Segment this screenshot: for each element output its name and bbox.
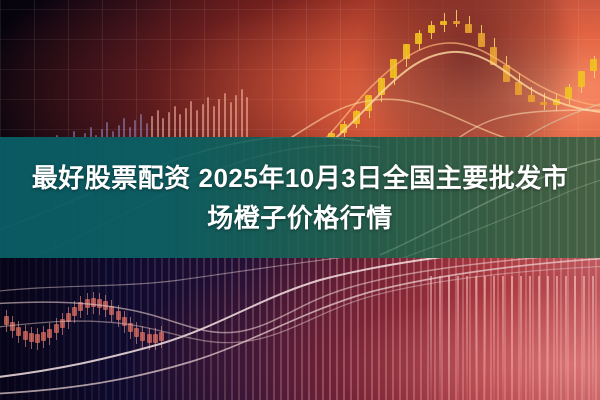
upper-candlestick-panel [0, 0, 600, 160]
trend-lines [0, 258, 600, 400]
lower-volume-panel [0, 258, 600, 400]
title-line-1: 最好股票配资 2025年10月3日全国主要批发市 [32, 159, 568, 197]
page-title: 最好股票配资 2025年10月3日全国主要批发市 场橙子价格行情 [0, 137, 600, 259]
banner-image: 最好股票配资 2025年10月3日全国主要批发市 场橙子价格行情 [0, 0, 600, 400]
title-line-2: 场橙子价格行情 [207, 199, 393, 237]
